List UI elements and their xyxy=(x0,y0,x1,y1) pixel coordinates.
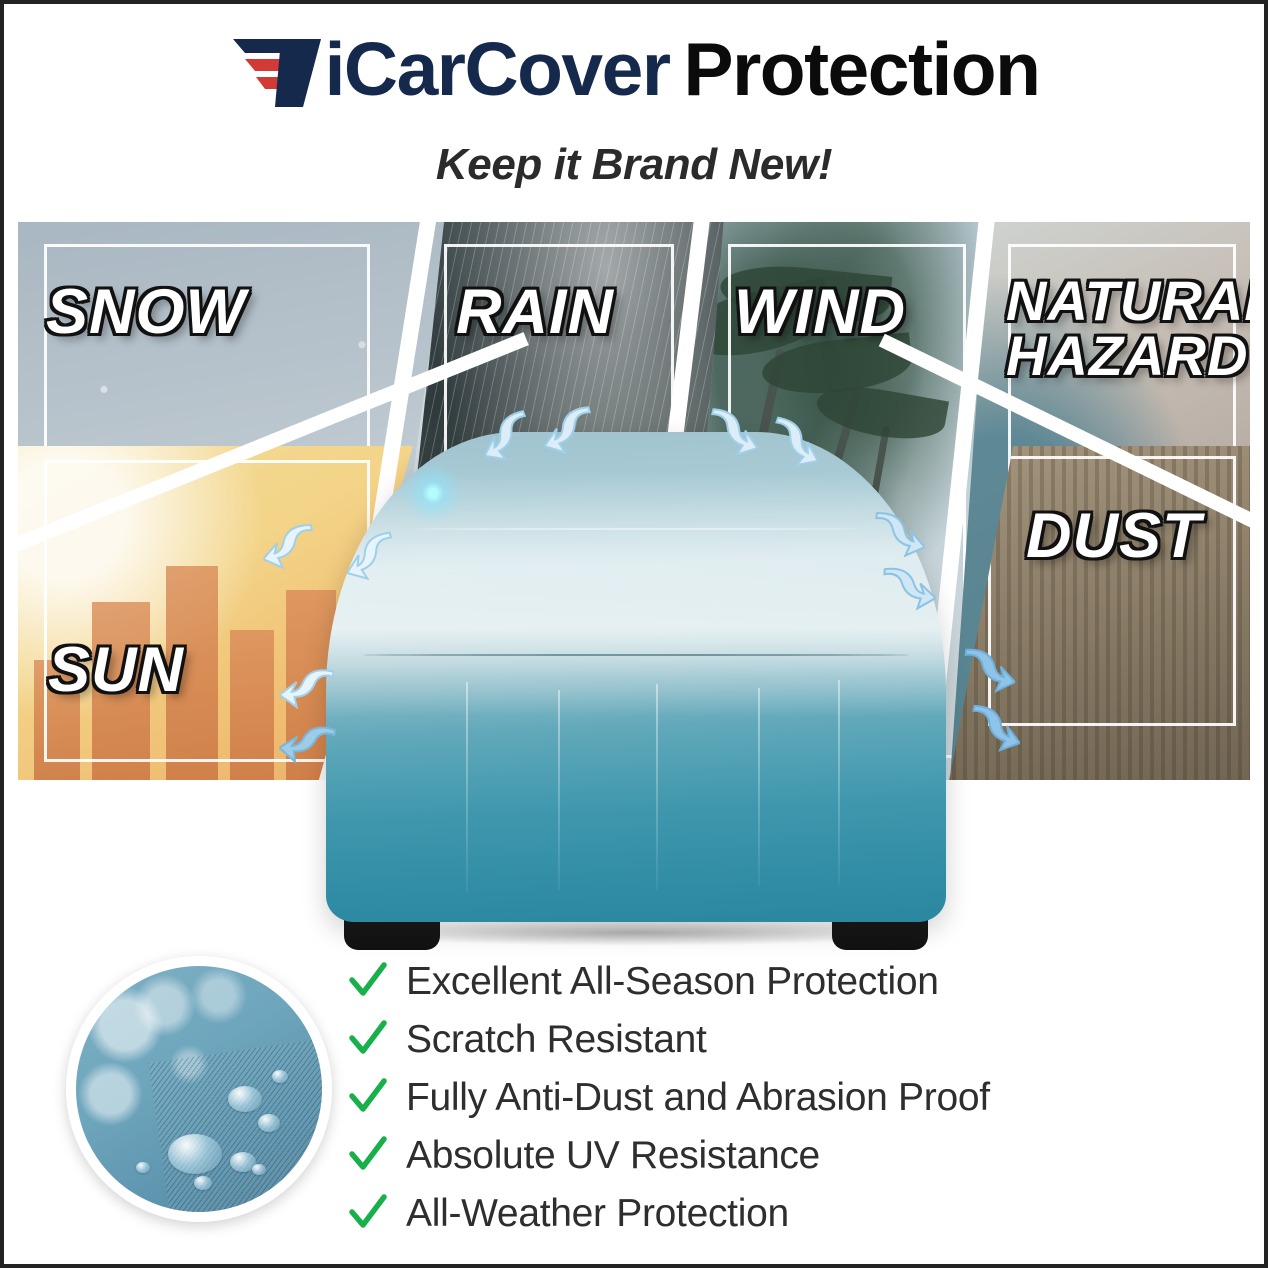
deflection-arrow-icon xyxy=(276,715,344,777)
car-cover-fabric xyxy=(326,432,946,922)
feature-label: Fully Anti-Dust and Abrasion Proof xyxy=(406,1078,990,1117)
deflection-arrow-icon xyxy=(863,506,930,566)
brand-name-primary: iCarCover xyxy=(325,27,670,111)
cover-seam xyxy=(413,528,859,530)
header: iCarCoverProtection Keep it Brand New! xyxy=(4,4,1264,204)
feature-label: Scratch Resistant xyxy=(406,1020,707,1059)
check-icon xyxy=(348,1077,388,1117)
fabric-mesh-texture xyxy=(148,1038,322,1212)
deflection-arrow-icon xyxy=(278,662,341,718)
check-icon xyxy=(348,1193,388,1233)
water-bead xyxy=(168,1134,222,1174)
feature-label: Absolute UV Resistance xyxy=(406,1136,820,1175)
feature-item: Fully Anti-Dust and Abrasion Proof xyxy=(348,1068,1168,1126)
brand-title: iCarCoverProtection xyxy=(325,32,1040,107)
deflection-arrow-icon xyxy=(259,518,326,578)
cover-fold xyxy=(558,690,560,890)
feature-label: All-Weather Protection xyxy=(406,1194,789,1233)
check-icon xyxy=(348,1019,388,1059)
water-bead xyxy=(272,1070,288,1083)
brand-row: iCarCoverProtection xyxy=(4,32,1264,107)
cover-fold xyxy=(466,682,468,892)
panel-label-wind: WIND xyxy=(734,282,906,344)
brand-name-secondary: Protection xyxy=(684,27,1040,111)
panel-label-natural-hazard: NATURAL HAZARD xyxy=(1006,274,1242,384)
feature-item: Absolute UV Resistance xyxy=(348,1126,1168,1184)
panel-label-snow: SNOW xyxy=(46,282,246,344)
cover-fold xyxy=(758,688,760,886)
water-bead xyxy=(194,1176,212,1190)
cover-glint xyxy=(398,458,468,528)
feature-item: Excellent All-Season Protection xyxy=(348,952,1168,1010)
icarcover-swoosh-logo-icon xyxy=(229,33,325,107)
water-beading-swatch xyxy=(66,956,332,1222)
feature-label: Excellent All-Season Protection xyxy=(406,962,939,1001)
cover-fold xyxy=(656,684,658,890)
panel-label-rain: RAIN xyxy=(456,282,614,344)
panel-label-dust: DUST xyxy=(1026,506,1202,568)
water-beading-fabric-image xyxy=(76,966,322,1212)
check-icon xyxy=(348,961,388,1001)
car-with-cover xyxy=(326,432,946,952)
feature-list: Excellent All-Season Protection Scratch … xyxy=(348,952,1168,1242)
feature-item: All-Weather Protection xyxy=(348,1184,1168,1242)
water-bead xyxy=(258,1114,280,1132)
tagline: Keep it Brand New! xyxy=(4,140,1264,190)
deflection-arrow-icon xyxy=(953,643,1018,701)
water-bead xyxy=(136,1162,150,1173)
water-bead xyxy=(252,1164,266,1175)
panel-label-sun: SUN xyxy=(48,640,184,702)
water-bead xyxy=(228,1086,262,1112)
feature-item: Scratch Resistant xyxy=(348,1010,1168,1068)
infographic-root: iCarCoverProtection Keep it Brand New! ❄… xyxy=(0,0,1268,1268)
check-icon xyxy=(348,1135,388,1175)
cover-fold xyxy=(838,680,840,884)
cover-seam xyxy=(363,654,909,656)
deflection-arrow-icon xyxy=(875,563,937,617)
building xyxy=(230,630,274,780)
